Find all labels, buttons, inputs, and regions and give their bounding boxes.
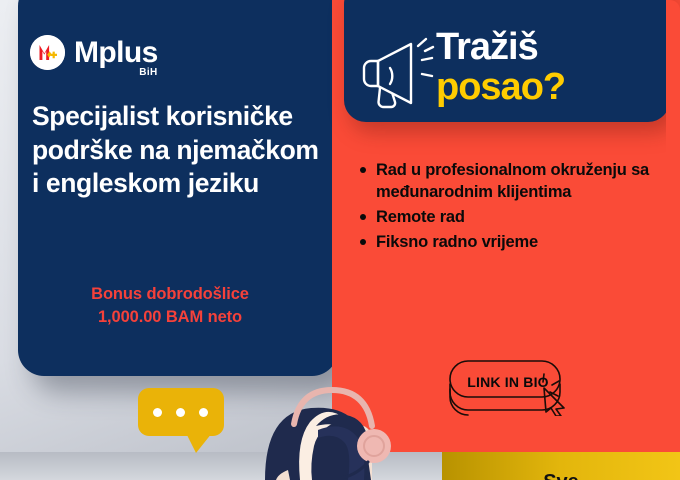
bonus-line-2: 1,000.00 BAM neto (32, 306, 308, 329)
typing-dot (199, 408, 208, 417)
speech-bubble-icon (138, 388, 224, 436)
right-heading: Tražiš posao? (436, 28, 652, 108)
bottom-strip-clipped-text: Sve (442, 471, 680, 480)
heading-line-trazis: Tražiš (436, 28, 652, 68)
link-in-bio-button[interactable]: LINK IN BIO (440, 358, 580, 416)
typing-dot (153, 408, 162, 417)
list-item: Fiksno radno vrijeme (376, 232, 670, 254)
job-title-headline: Specijalist korisničke podrške na njemač… (32, 100, 328, 201)
bonus-line-1: Bonus dobrodošlice (32, 283, 308, 306)
heading-line-posao: posao? (436, 68, 652, 108)
typing-dot (176, 408, 185, 417)
right-edge-accent (666, 0, 680, 452)
benefits-list: Rad u profesionalnom okruženju sa međuna… (356, 160, 670, 257)
list-item: Rad u profesionalnom okruženju sa međuna… (376, 160, 670, 204)
megaphone-icon (354, 32, 442, 110)
poster-canvas: Mplus BiH Specijalist korisničke podrške… (0, 0, 680, 480)
brand-logo-wordmark: Mplus BiH (74, 38, 160, 68)
link-in-bio-label: LINK IN BIO (458, 374, 558, 390)
mplus-circle-logo-icon (30, 35, 65, 70)
agent-illustration (110, 378, 410, 480)
brand-logo-subtext: BiH (139, 68, 157, 78)
bottom-yellow-strip: Sve (442, 452, 680, 480)
brand-logo[interactable]: Mplus BiH (30, 35, 160, 70)
welcome-bonus-block: Bonus dobrodošlice 1,000.00 BAM neto (32, 283, 308, 329)
list-item: Remote rad (376, 207, 670, 229)
